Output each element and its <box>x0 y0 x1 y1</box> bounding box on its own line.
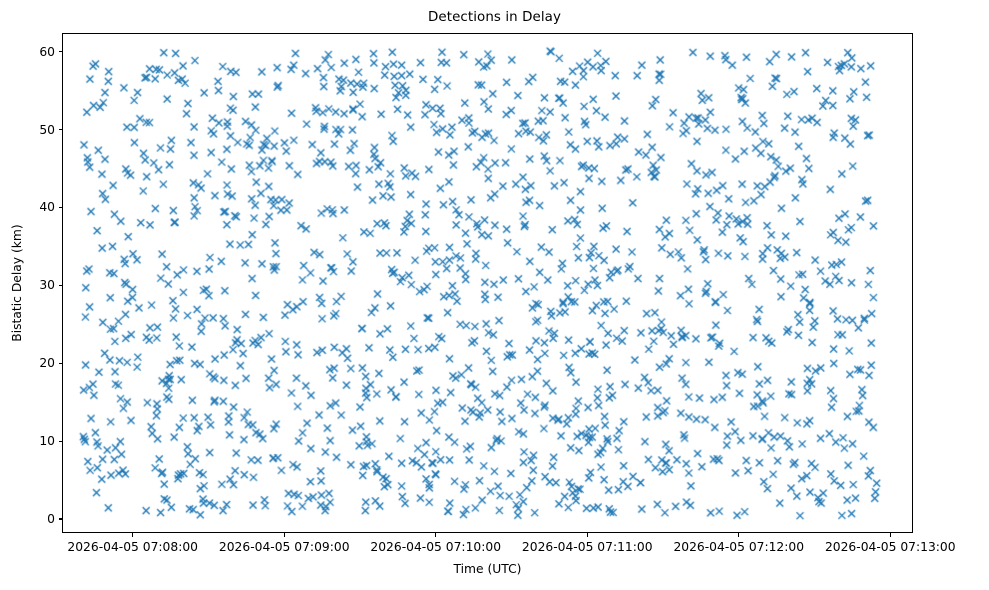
x-tick-label: 2026-04-05 07:13:00 <box>825 540 956 554</box>
x-tick-label: 2026-04-05 07:11:00 <box>522 540 653 554</box>
x-tick-label: 2026-04-05 07:09:00 <box>219 540 350 554</box>
y-tick-label: 50 <box>14 123 55 137</box>
x-tick-mark <box>435 533 436 537</box>
matplotlib-figure: Detections in Delay 0102030405060 2026-0… <box>0 0 989 590</box>
y-tick-label: 0 <box>14 512 55 526</box>
y-tick-label: 20 <box>14 356 55 370</box>
y-tick-label: 10 <box>14 434 55 448</box>
x-tick-label: 2026-04-05 07:10:00 <box>370 540 501 554</box>
x-tick-label: 2026-04-05 07:12:00 <box>673 540 804 554</box>
y-axis-label: Bistatic Delay (km) <box>10 224 24 341</box>
y-tick-label: 40 <box>14 200 55 214</box>
y-tick-label: 60 <box>14 45 55 59</box>
x-tick-mark <box>284 533 285 537</box>
x-axis-label: Time (UTC) <box>62 562 913 576</box>
chart-title: Detections in Delay <box>0 10 989 25</box>
x-tick-mark <box>132 533 133 537</box>
x-tick-label: 2026-04-05 07:08:00 <box>67 540 198 554</box>
scatter-points-layer <box>63 34 912 532</box>
x-tick-mark <box>890 533 891 537</box>
plot-axes-area <box>62 33 913 533</box>
x-tick-mark <box>738 533 739 537</box>
x-tick-mark <box>587 533 588 537</box>
